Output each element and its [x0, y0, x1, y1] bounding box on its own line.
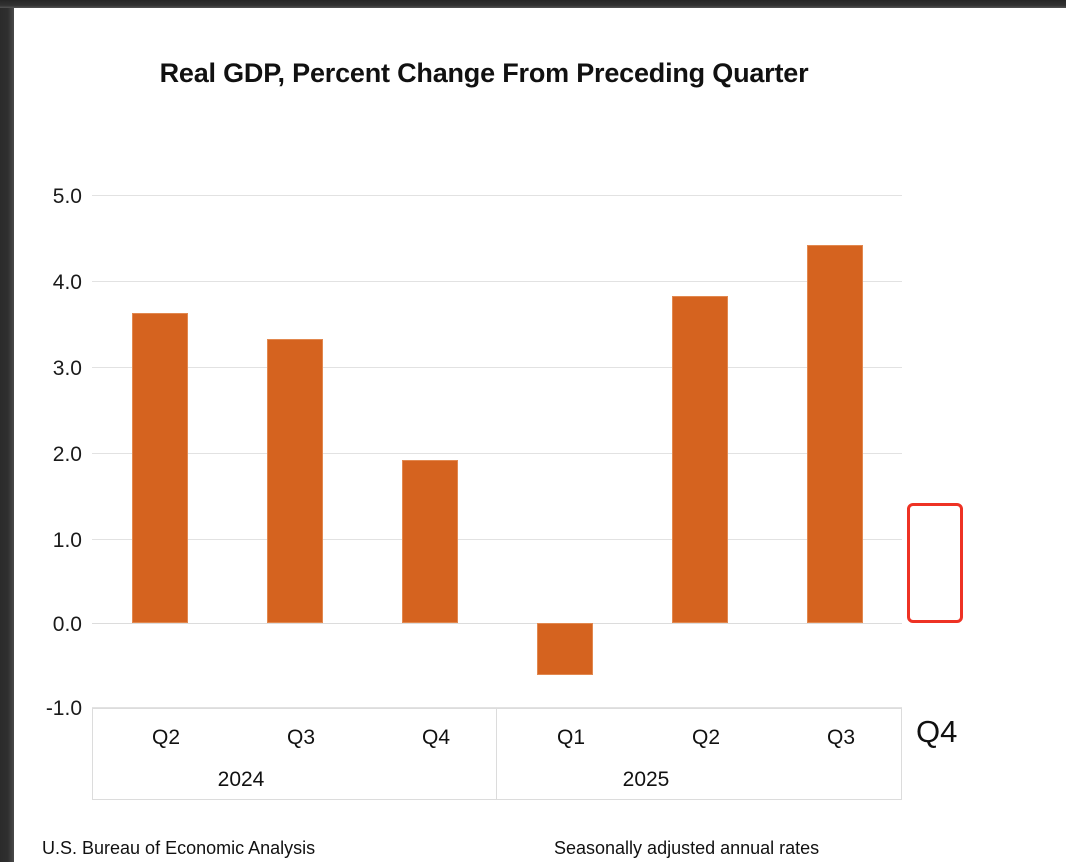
plot-area: 5.0 4.0 3.0 2.0 1.0 0.0 -1.0 Q2 Q3 Q4 Q1… — [14, 8, 1066, 862]
chart-canvas: Real GDP, Percent Change From Preceding … — [14, 8, 1066, 862]
x-axis-label-q2-2025: Q2 — [646, 726, 766, 750]
x-axis-year-2024: 2024 — [141, 768, 341, 792]
y-axis-tick-1: 1.0 — [22, 530, 82, 551]
footer-note-text: Seasonally adjusted annual rates — [554, 838, 819, 859]
gridline-5 — [92, 195, 902, 196]
y-axis-tick-5: 5.0 — [22, 186, 82, 207]
bar-q2-2024[interactable] — [132, 313, 188, 623]
gridline-2 — [92, 453, 902, 454]
bar-q3-2025[interactable] — [807, 245, 863, 623]
y-axis-tick-0: 0.0 — [22, 614, 82, 635]
bar-q3-2024[interactable] — [267, 339, 323, 623]
bar-q2-2025[interactable] — [672, 296, 728, 623]
gridline-1 — [92, 539, 902, 540]
y-axis-tick-minus-1: -1.0 — [22, 698, 82, 719]
y-axis-tick-2: 2.0 — [22, 444, 82, 465]
gridline-3 — [92, 367, 902, 368]
gridline-4 — [92, 281, 902, 282]
x-axis-label-q4-2024: Q4 — [376, 726, 496, 750]
y-axis-tick-3: 3.0 — [22, 358, 82, 379]
bar-q1-2025[interactable] — [537, 623, 593, 675]
window-frame-top-edge — [0, 0, 1066, 8]
y-axis-tick-4: 4.0 — [22, 272, 82, 293]
x-axis-label-q2-2024: Q2 — [106, 726, 226, 750]
footer-source-text: U.S. Bureau of Economic Analysis — [42, 838, 315, 859]
x-axis-label-q3-2024: Q3 — [241, 726, 361, 750]
x-axis-year-2025: 2025 — [546, 768, 746, 792]
bar-q4-2024[interactable] — [402, 460, 458, 623]
x-axis-year-divider — [496, 708, 497, 800]
annotation-label-q4: Q4 — [916, 714, 957, 750]
x-axis-label-q1-2025: Q1 — [511, 726, 631, 750]
missing-bar-highlight-box — [907, 503, 963, 623]
gridline-zero — [92, 623, 902, 624]
window-frame-left-edge — [0, 0, 14, 862]
x-axis-label-q3-2025: Q3 — [781, 726, 901, 750]
